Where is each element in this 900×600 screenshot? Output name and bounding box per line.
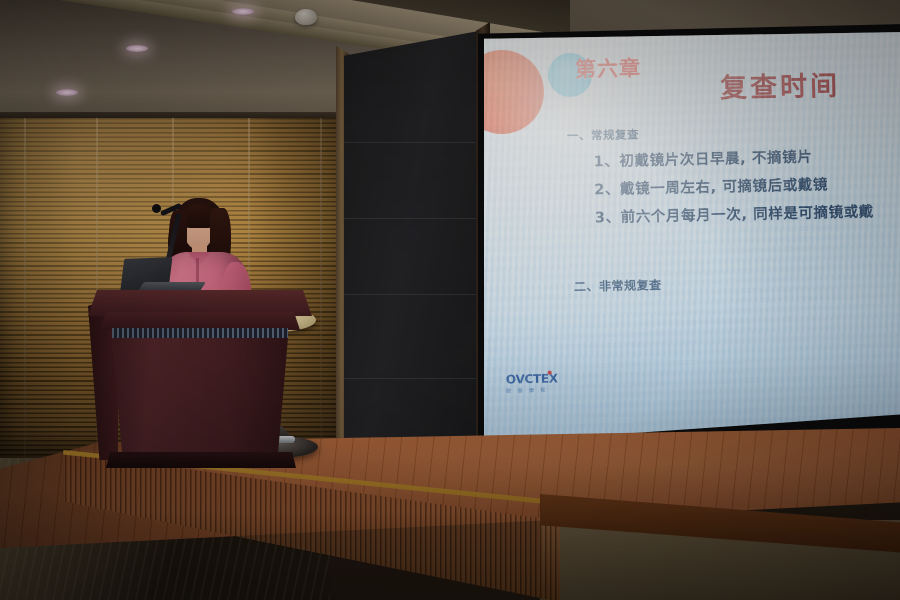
downlight-icon xyxy=(56,89,78,96)
podium-body xyxy=(112,338,288,460)
red-circle-decor-icon xyxy=(484,50,544,134)
slide-chapter-label: 第六章 xyxy=(575,52,642,83)
panel-seam xyxy=(344,142,484,143)
panel-seam xyxy=(344,218,484,219)
slide-brand-logo: OVCTEX 欧 普 康 视 xyxy=(506,371,558,394)
presentation-room-photo: 第六章 复查时间 一、常规复查 1、初戴镜片次日早晨, 不摘镜片 2、戴镜一周左… xyxy=(0,0,900,600)
logo-dot-icon xyxy=(548,371,552,375)
bullet-point: 3、前六个月每月一次, 同样是可摘镜或戴 xyxy=(595,199,900,227)
downlight-icon xyxy=(232,8,254,15)
microphone-head-icon xyxy=(152,204,161,213)
podium-base xyxy=(106,452,296,468)
bullet-point: 2、戴镜一周左右, 可摘镜后或戴镜 xyxy=(594,171,900,199)
slide-content: 第六章 复查时间 一、常规复查 1、初戴镜片次日早晨, 不摘镜片 2、戴镜一周左… xyxy=(484,32,900,454)
slide-title: 复查时间 xyxy=(720,64,841,106)
wall-panel-seam xyxy=(24,118,26,458)
panel-seam xyxy=(344,294,484,295)
logo-subtitle: 欧 普 康 视 xyxy=(506,386,558,394)
smoke-detector-icon xyxy=(295,9,317,25)
downlight-icon xyxy=(126,45,148,52)
projection-screen[interactable]: 第六章 复查时间 一、常规复查 1、初戴镜片次日早晨, 不摘镜片 2、戴镜一周左… xyxy=(484,32,900,454)
dark-acoustic-wall xyxy=(344,30,484,460)
bullet-point: 1、初戴镜片次日早晨, 不摘镜片 xyxy=(593,143,900,171)
slide-section-one: 一、常规复查 1、初戴镜片次日早晨, 不摘镜片 2、戴镜一周左右, 可摘镜后或戴… xyxy=(567,120,900,235)
section-heading-two: 二、非常规复查 xyxy=(574,276,662,295)
section-heading: 一、常规复查 xyxy=(567,120,900,144)
panel-seam xyxy=(344,378,484,379)
